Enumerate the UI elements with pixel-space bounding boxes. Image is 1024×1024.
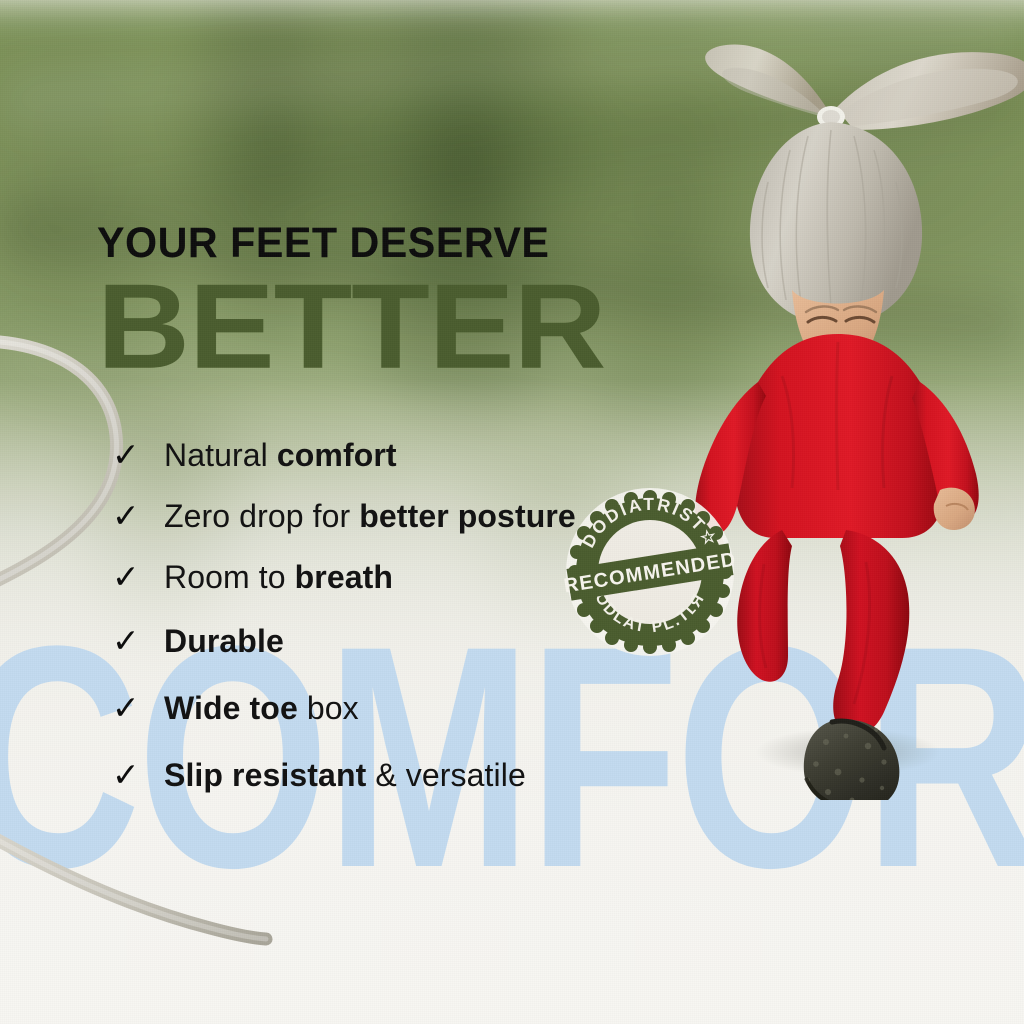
benefits-list: ✓ Natural comfort ✓ Zero drop for better… [112,438,632,793]
benefit-text: Durable [164,624,284,659]
benefit-text: Zero drop for better posture [164,499,576,534]
check-icon: ✓ [112,691,164,725]
benefit-item-room-to-breath: ✓ Room to breath [112,560,632,595]
check-icon: ✓ [112,499,164,533]
benefit-text: Wide toe box [164,691,359,726]
benefit-item-slip-resistant: ✓ Slip resistant & versatile [112,758,632,793]
runner-photo [640,0,1024,800]
benefit-text: Room to breath [164,560,393,595]
check-icon: ✓ [112,624,164,658]
benefit-item-durable: ✓ Durable [112,624,632,659]
headline-hero-word: BETTER [97,271,785,382]
benefit-item-natural-comfort: ✓ Natural comfort [112,438,632,473]
benefit-item-zero-drop-posture: ✓ Zero drop for better posture [112,499,632,534]
check-icon: ✓ [112,438,164,472]
podiatrist-recommended-seal: DODIATRIST☆ ODLAT РL.TʟЯ RECOMMENDED [562,484,738,660]
poster-canvas: COMFORT [0,0,1024,1024]
benefit-text: Natural comfort [164,438,397,473]
check-icon: ✓ [112,758,164,792]
check-icon: ✓ [112,560,164,594]
headline-block: YOUR FEET DESERVE BETTER [97,222,717,378]
benefit-text: Slip resistant & versatile [164,758,526,793]
benefit-item-wide-toe-box: ✓ Wide toe box [112,691,632,726]
